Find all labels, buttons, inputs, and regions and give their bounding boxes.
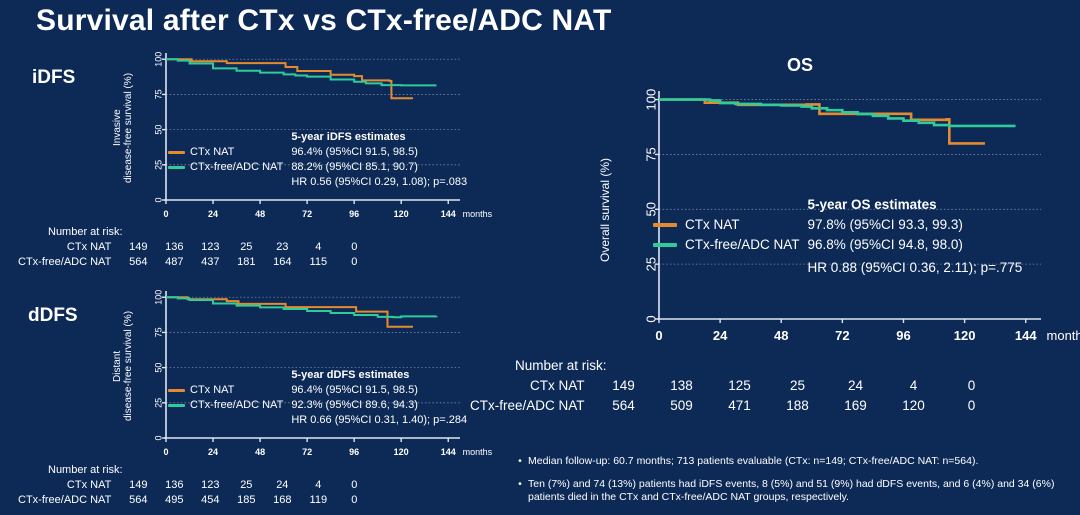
risk-row-label-ctx-nat-idfs: CTx NAT: [18, 240, 120, 255]
svg-text:120: 120: [394, 209, 409, 219]
panel-ddfs: dDFS Distant disease-free survival (%) 0…: [0, 283, 470, 468]
hazard-ratio-ddfs: HR 0.66 (95%CI 0.31, 1.40); p=.284: [291, 413, 467, 428]
legend-swatch-ctx-free-os: [653, 243, 677, 247]
panel-os: OS Overall survival (%) 0255075100024487…: [595, 55, 1065, 355]
legend-swatch-ctx-free-ddfs: [168, 404, 185, 407]
svg-text:50: 50: [153, 363, 163, 373]
svg-text:24: 24: [208, 447, 218, 457]
svg-text:96: 96: [349, 447, 359, 457]
list-item: • Median follow-up: 60.7 months; 713 pat…: [512, 455, 1072, 469]
svg-text:72: 72: [302, 447, 312, 457]
svg-text:75: 75: [643, 147, 658, 161]
estimate-value-ctx-free-os: 96.8% (95%CI 94.8, 98.0): [808, 235, 1023, 255]
number-at-risk-caption-idfs: Number at risk:: [48, 225, 372, 240]
svg-text:0: 0: [163, 447, 168, 457]
svg-text:24: 24: [713, 328, 728, 343]
svg-text:0: 0: [153, 197, 163, 202]
bullet-dot-icon: •: [512, 455, 528, 469]
legend-label-ctx-free-os: CTx-free/ADC NAT: [685, 237, 800, 252]
svg-text:0: 0: [153, 435, 163, 440]
legend-swatch-ctx-nat-os: [653, 223, 677, 227]
number-at-risk-ddfs: Number at risk: CTx NAT 149 136 123 25 2…: [18, 463, 372, 508]
estimates-os: 5-year OS estimates CTx NAT 97.8% (95%CI…: [653, 195, 1022, 278]
svg-text:100: 100: [643, 89, 658, 111]
svg-text:72: 72: [835, 328, 849, 343]
svg-text:50: 50: [153, 125, 163, 135]
estimates-header-os: 5-year OS estimates: [808, 195, 1023, 215]
panel-label-idfs: iDFS: [32, 67, 75, 89]
legend-label-ctx-nat-idfs: CTx NAT: [190, 146, 234, 158]
bullet-text-1: Median follow-up: 60.7 months; 713 patie…: [528, 455, 1072, 469]
hazard-ratio-os: HR 0.88 (95%CI 0.36, 2.11); p=.775: [808, 255, 1023, 278]
panel-idfs: iDFS Invasive disease-free survival (%) …: [0, 45, 470, 230]
estimate-value-ctx-nat-idfs: 96.4% (95%CI 91.5, 98.5): [291, 145, 467, 160]
legend-label-ctx-nat-os: CTx NAT: [685, 217, 740, 232]
footnote-bullets: • Median follow-up: 60.7 months; 713 pat…: [512, 455, 1072, 514]
svg-text:24: 24: [208, 209, 218, 219]
svg-text:75: 75: [153, 89, 163, 99]
estimate-value-ctx-free-ddfs: 92.3% (95%CI 89.6, 94.3): [291, 398, 467, 413]
risk-row-label-ctx-nat-ddfs: CTx NAT: [18, 478, 120, 493]
svg-text:months: months: [463, 209, 493, 219]
svg-text:144: 144: [441, 447, 456, 457]
svg-text:months: months: [463, 447, 493, 457]
legend-swatch-ctx-nat-ddfs: [168, 389, 185, 392]
svg-text:144: 144: [1015, 328, 1037, 343]
number-at-risk-table-os: CTx NAT 149 138 125 25 24 4 0 CTx-free/A…: [470, 376, 1001, 416]
axis-label-y-idfs: Invasive disease-free survival (%): [112, 53, 134, 203]
legend-label-ctx-nat-ddfs: CTx NAT: [190, 384, 234, 396]
axis-label-y-ddfs: Distant disease-free survival (%): [112, 291, 134, 441]
number-at-risk-caption-ddfs: Number at risk:: [48, 463, 372, 478]
table-row: CTx NAT 149 136 123 25 24 4 0: [18, 478, 372, 493]
panel-label-ddfs: dDFS: [28, 305, 78, 327]
estimates-header-ddfs: 5-year dDFS estimates: [291, 368, 467, 383]
svg-text:48: 48: [255, 209, 265, 219]
slide-root: Survival after CTx vs CTx-free/ADC NAT i…: [0, 0, 1080, 515]
estimates-header-idfs: 5-year iDFS estimates: [291, 130, 467, 145]
svg-text:0: 0: [643, 315, 658, 322]
estimate-value-ctx-free-idfs: 88.2% (95%CI 85.1, 90.7): [291, 160, 467, 175]
svg-text:96: 96: [896, 328, 910, 343]
svg-text:48: 48: [255, 447, 265, 457]
number-at-risk-table-ddfs: CTx NAT 149 136 123 25 24 4 0 CTx-free/A…: [18, 478, 372, 508]
chart-title-os: OS: [755, 55, 845, 76]
table-row: CTx-free/ADC NAT 564 487 437 181 164 115…: [18, 255, 372, 270]
list-item: • Ten (7%) and 74 (13%) patients had iDF…: [512, 478, 1072, 505]
risk-row-label-ctx-free-os: CTx-free/ADC NAT: [470, 396, 595, 416]
estimate-value-ctx-nat-os: 97.8% (95%CI 93.3, 99.3): [808, 215, 1023, 235]
svg-text:96: 96: [349, 209, 359, 219]
hazard-ratio-idfs: HR 0.56 (95%CI 0.29, 1.08); p=.083: [291, 175, 467, 190]
risk-row-label-ctx-free-ddfs: CTx-free/ADC NAT: [18, 493, 120, 508]
page-title: Survival after CTx vs CTx-free/ADC NAT: [36, 4, 612, 38]
bullet-dot-icon: •: [512, 478, 528, 505]
estimates-ddfs: 5-year dDFS estimates CTx NAT 96.4% (95%…: [168, 368, 467, 428]
table-row: CTx-free/ADC NAT 564 509 471 188 169 120…: [470, 396, 1001, 416]
table-row: CTx NAT 149 136 123 25 23 4 0: [18, 240, 372, 255]
legend-swatch-ctx-free-idfs: [168, 166, 185, 169]
bullet-text-2: Ten (7%) and 74 (13%) patients had iDFS …: [528, 478, 1072, 505]
legend-label-ctx-free-idfs: CTx-free/ADC NAT: [190, 161, 283, 173]
svg-text:25: 25: [153, 398, 163, 408]
svg-text:72: 72: [302, 209, 312, 219]
number-at-risk-table-idfs: CTx NAT 149 136 123 25 23 4 0 CTx-free/A…: [18, 240, 372, 270]
svg-text:100: 100: [153, 52, 163, 67]
number-at-risk-caption-os: Number at risk:: [515, 356, 1001, 376]
estimates-idfs: 5-year iDFS estimates CTx NAT 96.4% (95%…: [168, 130, 467, 190]
svg-text:48: 48: [774, 328, 788, 343]
svg-text:months: months: [1047, 328, 1080, 343]
legend-label-ctx-free-ddfs: CTx-free/ADC NAT: [190, 399, 283, 411]
table-row: CTx-free/ADC NAT 564 495 454 185 168 119…: [18, 493, 372, 508]
svg-text:100: 100: [153, 290, 163, 305]
svg-text:75: 75: [153, 327, 163, 337]
svg-text:0: 0: [163, 209, 168, 219]
table-row: CTx NAT 149 138 125 25 24 4 0: [470, 376, 1001, 396]
svg-text:0: 0: [655, 328, 662, 343]
svg-text:120: 120: [954, 328, 976, 343]
estimate-value-ctx-nat-ddfs: 96.4% (95%CI 91.5, 98.5): [291, 383, 467, 398]
svg-text:25: 25: [153, 160, 163, 170]
number-at-risk-idfs: Number at risk: CTx NAT 149 136 123 25 2…: [18, 225, 372, 270]
number-at-risk-os: Number at risk: CTx NAT 149 138 125 25 2…: [470, 356, 1001, 416]
svg-text:120: 120: [394, 447, 409, 457]
axis-label-y-os: Overall survival (%): [599, 100, 612, 320]
risk-row-label-ctx-free-idfs: CTx-free/ADC NAT: [18, 255, 120, 270]
svg-text:144: 144: [441, 209, 456, 219]
risk-row-label-ctx-nat-os: CTx NAT: [470, 376, 595, 396]
legend-swatch-ctx-nat-idfs: [168, 151, 185, 154]
